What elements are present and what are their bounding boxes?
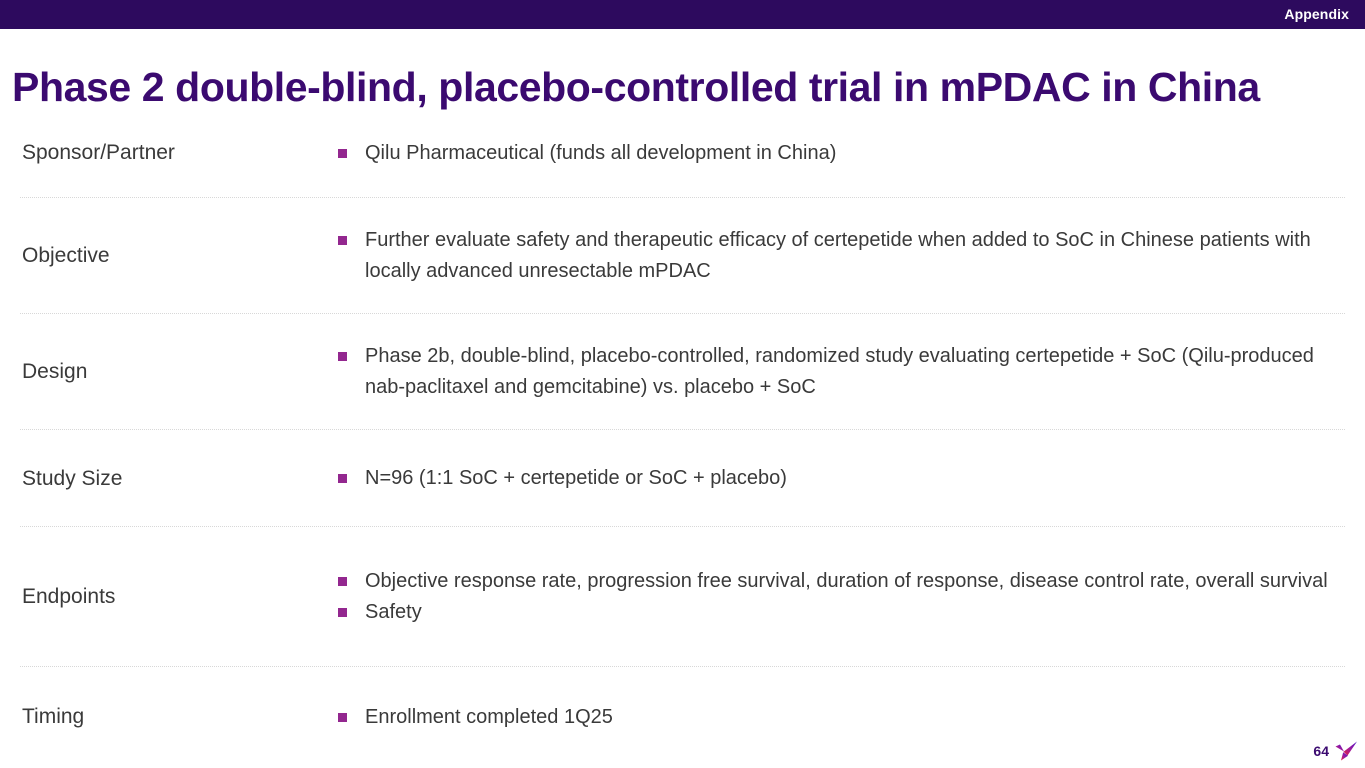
list-item: Enrollment completed 1Q25 — [338, 702, 1345, 733]
table-row: Timing Enrollment completed 1Q25 — [0, 667, 1365, 767]
appendix-label: Appendix — [1284, 5, 1349, 23]
row-content-design: Phase 2b, double-blind, placebo-controll… — [330, 341, 1345, 403]
row-label-endpoints: Endpoints — [22, 584, 330, 610]
list-item-text: Safety — [365, 597, 1345, 628]
table-row: Design Phase 2b, double-blind, placebo-c… — [0, 314, 1365, 430]
row-content-endpoints: Objective response rate, progression fre… — [330, 566, 1345, 628]
row-content-objective: Further evaluate safety and therapeutic … — [330, 225, 1345, 287]
list-item: Qilu Pharmaceutical (funds all developme… — [338, 138, 1345, 169]
row-content-sponsor-partner: Qilu Pharmaceutical (funds all developme… — [330, 138, 1345, 169]
page-title: Phase 2 double-blind, placebo-controlled… — [12, 63, 1352, 111]
square-bullet-icon — [338, 577, 347, 586]
list-item-text: Further evaluate safety and therapeutic … — [365, 225, 1345, 287]
square-bullet-icon — [338, 474, 347, 483]
trial-summary-table: Sponsor/Partner Qilu Pharmaceutical (fun… — [0, 108, 1365, 767]
row-label-objective: Objective — [22, 243, 330, 269]
list-item: N=96 (1:1 SoC + certepetide or SoC + pla… — [338, 463, 1345, 494]
square-bullet-icon — [338, 352, 347, 361]
row-label-design: Design — [22, 359, 330, 385]
list-item: Safety — [338, 597, 1345, 628]
appendix-header-bar: Appendix — [0, 0, 1365, 29]
row-label-study-size: Study Size — [22, 466, 330, 492]
page-number: 64 — [1313, 743, 1329, 759]
table-row: Objective Further evaluate safety and th… — [0, 198, 1365, 314]
square-bullet-icon — [338, 149, 347, 158]
table-row: Endpoints Objective response rate, progr… — [0, 527, 1365, 667]
list-item-text: Qilu Pharmaceutical (funds all developme… — [365, 138, 1345, 169]
square-bullet-icon — [338, 608, 347, 617]
list-item: Phase 2b, double-blind, placebo-controll… — [338, 341, 1345, 403]
row-content-timing: Enrollment completed 1Q25 — [330, 702, 1345, 733]
list-item: Objective response rate, progression fre… — [338, 566, 1345, 597]
square-bullet-icon — [338, 236, 347, 245]
square-bullet-icon — [338, 713, 347, 722]
company-bird-logo-icon — [1333, 739, 1359, 763]
list-item-text: Enrollment completed 1Q25 — [365, 702, 1345, 733]
row-label-sponsor-partner: Sponsor/Partner — [22, 140, 330, 166]
list-item-text: Objective response rate, progression fre… — [365, 566, 1345, 597]
list-item: Further evaluate safety and therapeutic … — [338, 225, 1345, 287]
row-label-timing: Timing — [22, 704, 330, 730]
table-row: Sponsor/Partner Qilu Pharmaceutical (fun… — [0, 108, 1365, 198]
list-item-text: N=96 (1:1 SoC + certepetide or SoC + pla… — [365, 463, 1345, 494]
list-item-text: Phase 2b, double-blind, placebo-controll… — [365, 341, 1345, 403]
row-content-study-size: N=96 (1:1 SoC + certepetide or SoC + pla… — [330, 463, 1345, 494]
table-row: Study Size N=96 (1:1 SoC + certepetide o… — [0, 430, 1365, 527]
